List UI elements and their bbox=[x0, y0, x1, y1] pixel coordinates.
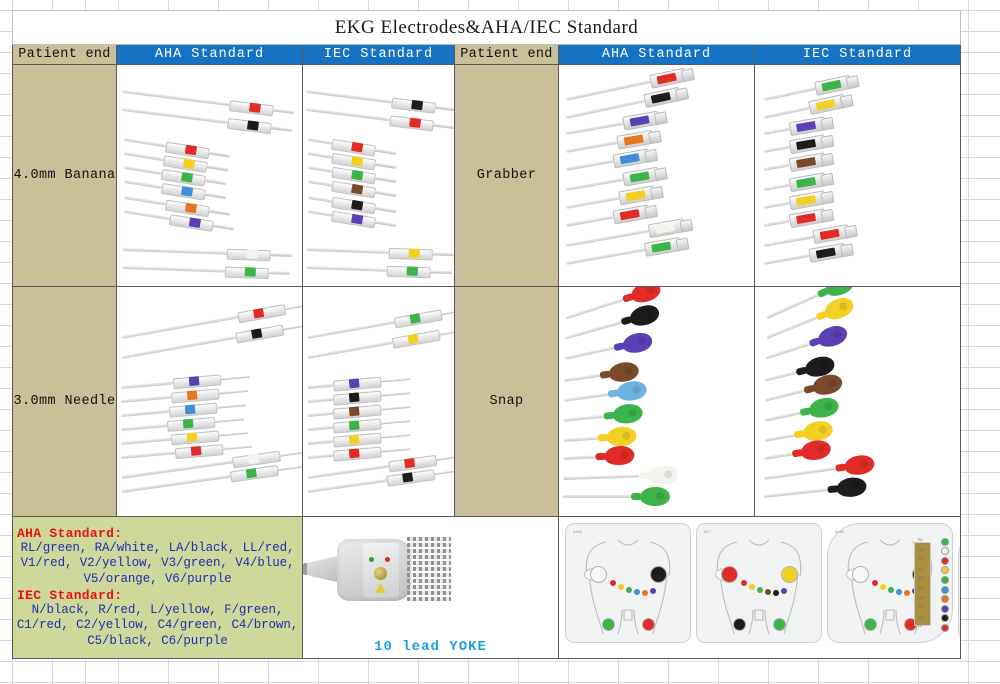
color-band bbox=[183, 419, 194, 429]
color-band bbox=[351, 156, 363, 167]
color-band bbox=[404, 458, 415, 468]
chest-electrode bbox=[618, 584, 624, 590]
cell-grabber-iec bbox=[755, 65, 961, 287]
torso-outline-icon bbox=[697, 524, 821, 642]
electrode-leg-left bbox=[733, 618, 746, 631]
chest-electrode bbox=[888, 587, 894, 593]
legend-iec-heading: IEC Standard: bbox=[13, 588, 302, 603]
table-row-headers: Patient end AHA Standard IEC Standard Pa… bbox=[13, 45, 961, 65]
legend-strip-row: V6 bbox=[918, 603, 950, 612]
color-band bbox=[189, 217, 201, 228]
chest-electrode bbox=[872, 580, 878, 586]
legend-strip-row: V3 bbox=[918, 574, 950, 583]
electrode-leg-left bbox=[864, 618, 877, 631]
header-iec-standard-1: IEC Standard bbox=[303, 45, 455, 65]
color-band bbox=[248, 454, 259, 464]
banana-iec-leads-image bbox=[303, 65, 454, 286]
cell-needle-iec bbox=[303, 287, 455, 517]
color-band bbox=[657, 73, 677, 85]
color-band bbox=[630, 171, 650, 182]
snap-iec-leads-image bbox=[755, 287, 960, 516]
chest-electrode bbox=[634, 589, 640, 595]
color-band bbox=[185, 145, 197, 156]
needle-aha-leads-image bbox=[117, 287, 302, 516]
legend-iec-line-1: N/black, R/red, L/yellow, F/green, bbox=[13, 603, 302, 619]
color-band bbox=[351, 200, 363, 211]
cell-banana-aha bbox=[117, 65, 303, 287]
chest-electrode bbox=[896, 589, 902, 595]
color-band bbox=[796, 177, 816, 188]
torso-diagram-panel: AHARA bbox=[565, 523, 691, 643]
legend-strip-row: LL bbox=[918, 622, 950, 631]
chest-electrode bbox=[626, 587, 632, 593]
color-band bbox=[351, 170, 363, 181]
color-band bbox=[245, 267, 256, 276]
color-band bbox=[349, 392, 360, 402]
color-band bbox=[655, 223, 675, 234]
snap-aha-leads-image bbox=[559, 287, 754, 516]
legend-aha-line-2: V1/red, V2/yellow, V3/green, V4/blue, bbox=[13, 556, 302, 572]
cell-yoke: 10 lead YOKE bbox=[303, 517, 559, 659]
yoke-cone bbox=[307, 555, 341, 583]
electrode-chest-right bbox=[781, 566, 798, 583]
color-band bbox=[402, 472, 413, 482]
row-label-banana: 4.0mm Banana bbox=[13, 65, 117, 287]
color-band bbox=[411, 100, 423, 110]
color-band bbox=[796, 213, 816, 224]
legend-strip-row: V5 bbox=[918, 594, 950, 603]
legend-strip-row: LA bbox=[918, 613, 950, 622]
color-band bbox=[251, 328, 262, 339]
color-band bbox=[187, 432, 198, 442]
color-band bbox=[253, 308, 264, 319]
color-band bbox=[630, 115, 650, 126]
electrode-leg-right bbox=[642, 618, 655, 631]
chest-electrode bbox=[749, 584, 755, 590]
color-band bbox=[409, 118, 421, 128]
color-band bbox=[185, 203, 197, 214]
cell-torso-diagrams: AHARAIECRAHARARLRAV1V2V3V4V5V6LALLIECRNR… bbox=[559, 517, 961, 659]
yoke-label: 10 lead YOKE bbox=[303, 639, 558, 655]
electrode-chest-right bbox=[650, 566, 667, 583]
color-band bbox=[816, 247, 836, 258]
color-band bbox=[351, 184, 363, 195]
electrode-placement-diagrams: AHARAIECRAHARARLRAV1V2V3V4V5V6LALLIECRNR… bbox=[559, 517, 960, 658]
color-band bbox=[183, 158, 195, 169]
chest-electrode bbox=[741, 580, 747, 586]
legend-iec-line-2: C1/red, C2/yellow, C4/green, C4/brown, bbox=[13, 618, 302, 634]
table-row-needle-snap: 3.0mm Needle Snap bbox=[13, 287, 961, 517]
torso-diagram-panel: AHARARLRAV1V2V3V4V5V6LALL bbox=[827, 523, 953, 643]
yoke-connector-image bbox=[303, 517, 558, 658]
color-band bbox=[407, 334, 418, 345]
color-band bbox=[624, 134, 644, 145]
torso-outline-icon bbox=[959, 524, 961, 642]
chest-electrode bbox=[765, 589, 771, 595]
legend-aha-line-3: V5/orange, V6/purple bbox=[13, 572, 302, 588]
color-band bbox=[349, 420, 360, 430]
color-band bbox=[187, 390, 198, 400]
color-band bbox=[246, 468, 257, 478]
legend-strip-row: RL bbox=[918, 536, 950, 545]
chest-electrode bbox=[642, 590, 648, 596]
yoke-knob bbox=[374, 567, 387, 580]
ekg-electrode-table: EKG Electrodes&AHA/IEC Standard Patient … bbox=[12, 10, 961, 659]
header-patient-end-2: Patient end bbox=[455, 45, 559, 65]
color-band bbox=[349, 434, 360, 444]
color-band bbox=[820, 229, 840, 240]
header-iec-standard-2: IEC Standard bbox=[755, 45, 961, 65]
color-band bbox=[249, 103, 261, 113]
legend-iec-line-3: C5/black, C6/purple bbox=[13, 634, 302, 650]
cell-grabber-aha bbox=[559, 65, 755, 287]
color-band bbox=[247, 120, 259, 130]
header-patient-end-1: Patient end bbox=[13, 45, 117, 65]
torso-diagram-panel: IECRNRC1C2C3C4C5C6LF bbox=[958, 523, 961, 643]
cell-banana-iec bbox=[303, 65, 455, 287]
electrode-leg-right bbox=[773, 618, 786, 631]
torso-diagram-panel: IECR bbox=[696, 523, 822, 643]
color-band bbox=[409, 249, 420, 258]
color-band bbox=[407, 266, 418, 275]
color-band bbox=[189, 376, 200, 386]
color-band bbox=[651, 242, 671, 253]
legend-strip-row: RA bbox=[918, 546, 950, 555]
color-band bbox=[247, 249, 258, 258]
color-band bbox=[349, 378, 360, 388]
chest-electrode bbox=[773, 590, 779, 596]
electrode-chest-left bbox=[721, 566, 738, 583]
chest-electrode bbox=[781, 588, 787, 594]
chest-electrode bbox=[650, 588, 656, 594]
needle-iec-leads-image bbox=[303, 287, 454, 516]
yoke-front-panel bbox=[363, 543, 399, 597]
color-band bbox=[185, 405, 196, 415]
table-row-banana-grabber: 4.0mm Banana Grabber bbox=[13, 65, 961, 287]
row-label-grabber: Grabber bbox=[455, 65, 559, 287]
legend-strip-row: V2 bbox=[918, 565, 950, 574]
cell-snap-iec bbox=[755, 287, 961, 517]
grabber-iec-leads-image bbox=[755, 65, 960, 286]
cell-needle-aha bbox=[117, 287, 303, 517]
cell-snap-aha bbox=[559, 287, 755, 517]
color-band bbox=[181, 186, 193, 197]
color-band bbox=[620, 209, 640, 220]
color-band bbox=[626, 190, 646, 201]
legend-aha-heading: AHA Standard: bbox=[13, 526, 302, 541]
color-band bbox=[796, 139, 816, 150]
color-band bbox=[796, 157, 816, 168]
warning-triangle-icon bbox=[375, 583, 386, 593]
row-label-needle: 3.0mm Needle bbox=[13, 287, 117, 517]
color-band bbox=[181, 172, 193, 183]
color-band bbox=[651, 92, 671, 104]
color-band bbox=[409, 313, 420, 324]
page-title: EKG Electrodes&AHA/IEC Standard bbox=[13, 11, 961, 45]
header-aha-standard-2: AHA Standard bbox=[559, 45, 755, 65]
color-band bbox=[351, 214, 363, 225]
spreadsheet-canvas: EKG Electrodes&AHA/IEC Standard Patient … bbox=[0, 0, 1000, 684]
electrode-chest-left bbox=[590, 566, 607, 583]
color-band bbox=[351, 142, 363, 153]
grabber-aha-leads-image bbox=[559, 65, 754, 286]
color-band bbox=[620, 153, 640, 164]
legend-strip-row: V4 bbox=[918, 584, 950, 593]
table-row-title: EKG Electrodes&AHA/IEC Standard bbox=[13, 11, 961, 45]
color-band bbox=[815, 99, 835, 111]
table-row-legend: AHA Standard: RL/green, RA/white, LA/bla… bbox=[13, 517, 961, 659]
chest-electrode bbox=[610, 580, 616, 586]
chest-electrode bbox=[880, 584, 886, 590]
color-band bbox=[796, 121, 816, 132]
banana-aha-leads-image bbox=[117, 65, 302, 286]
color-band bbox=[796, 195, 816, 206]
row-label-snap: Snap bbox=[455, 287, 559, 517]
header-aha-standard-1: AHA Standard bbox=[117, 45, 303, 65]
torso-outline-icon bbox=[566, 524, 690, 642]
color-band bbox=[349, 406, 360, 416]
electrode-leg-left bbox=[602, 618, 615, 631]
electrode-chest-left bbox=[852, 566, 869, 583]
color-code-legend: AHA Standard: RL/green, RA/white, LA/bla… bbox=[13, 517, 303, 659]
legend-strip-row: V1 bbox=[918, 555, 950, 564]
yoke-pin-block bbox=[407, 537, 453, 603]
color-band bbox=[191, 446, 202, 456]
chest-electrode bbox=[904, 590, 910, 596]
color-band bbox=[821, 80, 841, 92]
color-band bbox=[349, 448, 360, 458]
legend-aha-line-1: RL/green, RA/white, LA/black, LL/red, bbox=[13, 541, 302, 557]
chest-electrode bbox=[757, 587, 763, 593]
